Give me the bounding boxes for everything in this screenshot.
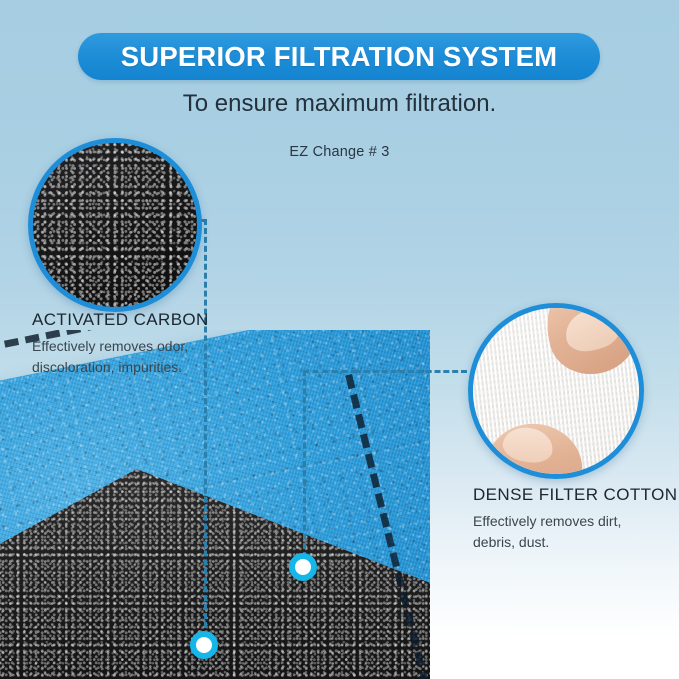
callout-description-line1: Effectively removes odor, <box>32 336 209 357</box>
callout-heading: ACTIVATED CARBON <box>32 310 209 330</box>
callout-description-line2: debris, dust. <box>473 532 677 553</box>
callout-activated-carbon: ACTIVATED CARBON Effectively removes odo… <box>32 310 209 378</box>
callout-description-line2: discoloration, impurities. <box>32 357 209 378</box>
callout-description-line1: Effectively removes dirt, <box>473 511 677 532</box>
callout-heading: DENSE FILTER COTTON <box>473 485 677 505</box>
activated-carbon-photo <box>28 138 202 312</box>
infographic-canvas: SUPERIOR FILTRATION SYSTEM To ensure max… <box>0 0 679 679</box>
connector-line-cotton-horizontal <box>355 370 467 373</box>
connector-line-cotton-vertical <box>303 370 306 558</box>
connector-line-carbon-vertical <box>204 219 207 637</box>
product-photo <box>0 330 430 679</box>
dense-filter-cotton-photo <box>468 303 644 479</box>
callout-dense-filter-cotton: DENSE FILTER COTTON Effectively removes … <box>473 485 677 553</box>
page-title: SUPERIOR FILTRATION SYSTEM <box>121 41 558 73</box>
hotspot-marker-cotton <box>289 553 317 581</box>
hotspot-marker-carbon <box>190 631 218 659</box>
page-subtitle: To ensure maximum filtration. <box>0 90 679 118</box>
connector-line-cotton-elbow <box>303 370 357 373</box>
title-banner: SUPERIOR FILTRATION SYSTEM <box>78 33 600 80</box>
